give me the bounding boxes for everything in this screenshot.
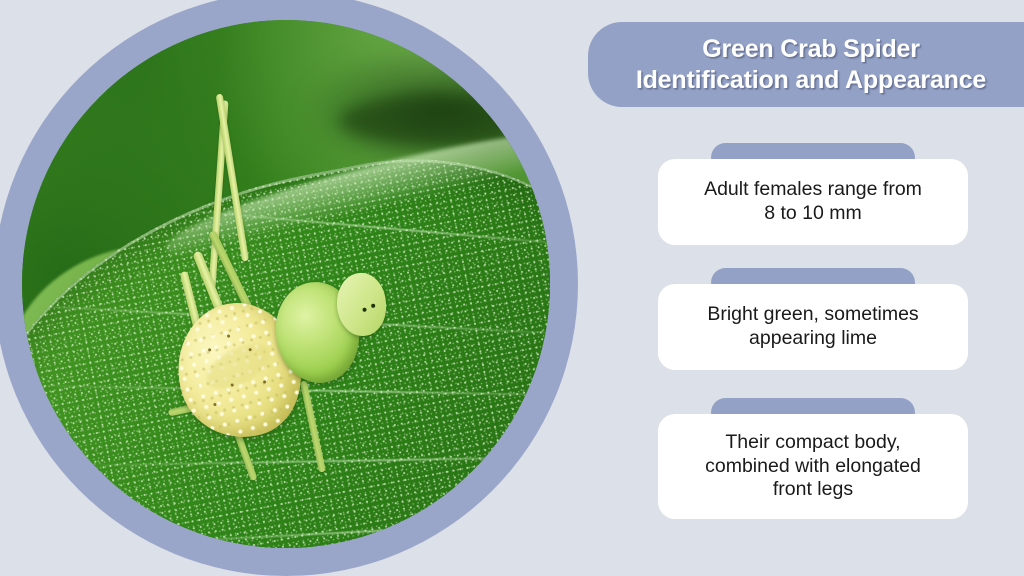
photo-background: [22, 20, 550, 548]
abdomen-dot: [248, 348, 252, 352]
fact-card-body: Bright green, sometimes appearing lime: [658, 284, 968, 370]
abdomen-dot: [207, 348, 211, 352]
abdomen-dot: [226, 334, 230, 338]
spider-eye: [363, 308, 367, 312]
fact-card-text: Their compact body, combined with elonga…: [705, 431, 921, 502]
abdomen-dot: [213, 403, 217, 407]
fact-card-body: Their compact body, combined with elonga…: [658, 414, 968, 519]
fact-card-text: Bright green, sometimes appearing lime: [707, 303, 918, 351]
abdomen-dot: [262, 380, 266, 384]
page-title: Green Crab Spider Identification and App…: [622, 34, 1000, 95]
slide-canvas: Green Crab Spider Identification and App…: [0, 0, 1024, 576]
title-banner: Green Crab Spider Identification and App…: [588, 22, 1024, 107]
spider: [159, 83, 465, 505]
fact-card-body: Adult females range from 8 to 10 mm: [658, 159, 968, 245]
spider-eye: [371, 304, 375, 308]
spider-photo: [22, 20, 550, 548]
fact-card-text: Adult females range from 8 to 10 mm: [704, 178, 922, 226]
